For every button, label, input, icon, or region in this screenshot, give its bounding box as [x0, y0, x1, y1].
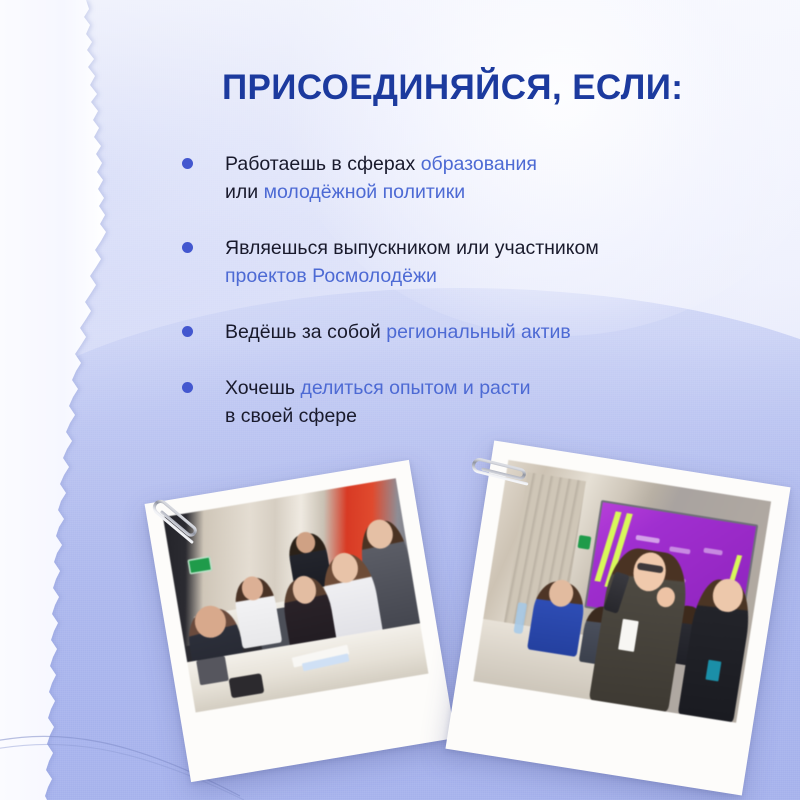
segment-plain: Работаешь в сферах — [225, 153, 421, 175]
bullet-dot-icon — [182, 382, 193, 393]
segment-plain: Ведёшь за собой — [225, 321, 386, 343]
bullet-text-growth: Хочешь делиться опытом и расти в своей с… — [225, 374, 530, 430]
photo-speaker — [473, 460, 771, 723]
segment-plain: Являешься выпускником или участником — [225, 237, 599, 259]
segment-highlight: проектов Росмолодёжи — [225, 265, 437, 287]
segment-plain: или — [225, 181, 264, 203]
list-item: Являешься выпускником или участником про… — [182, 234, 702, 290]
bullet-text-regional: Ведёшь за собой региональный актив — [225, 318, 571, 346]
bullet-dot-icon — [182, 158, 193, 169]
bullet-dot-icon — [182, 242, 193, 253]
bullet-text-alumni: Являешься выпускником или участником про… — [225, 234, 599, 290]
segment-highlight: региональный актив — [386, 321, 571, 343]
bullet-dot-icon — [182, 326, 193, 337]
photo-speaker-polaroid — [445, 440, 790, 795]
segment-highlight: образования — [421, 153, 537, 175]
bullet-text-education: Работаешь в сферах образования или молод… — [225, 150, 537, 206]
list-item: Работаешь в сферах образования или молод… — [182, 150, 702, 206]
photo-audience — [163, 478, 428, 712]
list-item: Хочешь делиться опытом и расти в своей с… — [182, 374, 702, 430]
segment-highlight: делиться опытом и расти — [300, 377, 530, 399]
page-title: ПРИСОЕДИНЯЙСЯ, ЕСЛИ: — [222, 68, 683, 108]
benefits-list: Работаешь в сферах образования или молод… — [182, 150, 702, 458]
slide-canvas: ПРИСОЕДИНЯЙСЯ, ЕСЛИ: Работаешь в сферах … — [0, 0, 800, 800]
segment-plain: Хочешь — [225, 377, 300, 399]
photo-audience-polaroid — [145, 460, 456, 782]
segment-highlight: молодёжной политики — [264, 181, 466, 203]
photo-tablet — [196, 655, 228, 685]
segment-plain: в своей сфере — [225, 405, 357, 427]
list-item: Ведёшь за собой региональный актив — [182, 318, 702, 346]
